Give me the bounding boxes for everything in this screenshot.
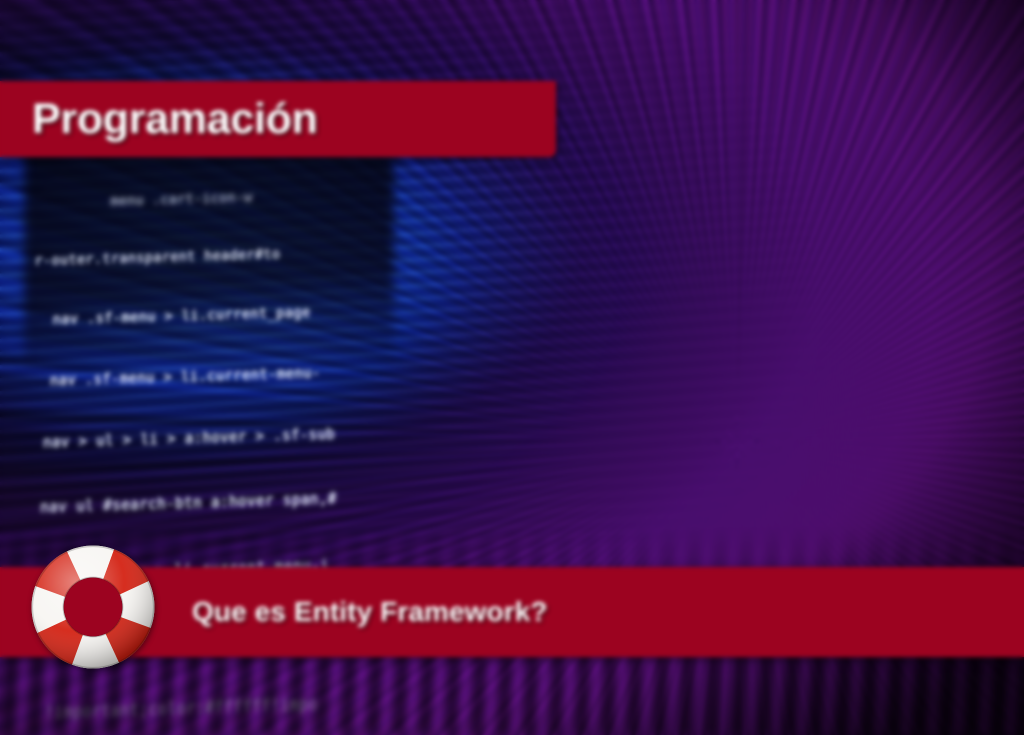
featured-image-card: menu .cart-icon-w r-outer.transparent he…: [0, 0, 1024, 735]
category-banner[interactable]: Programación: [0, 81, 556, 157]
lifebuoy-icon: [25, 543, 161, 671]
post-title: Que es Entity Framework?: [192, 598, 548, 626]
lifebuoy-logo[interactable]: [25, 543, 161, 671]
category-label: Programación: [32, 98, 318, 141]
